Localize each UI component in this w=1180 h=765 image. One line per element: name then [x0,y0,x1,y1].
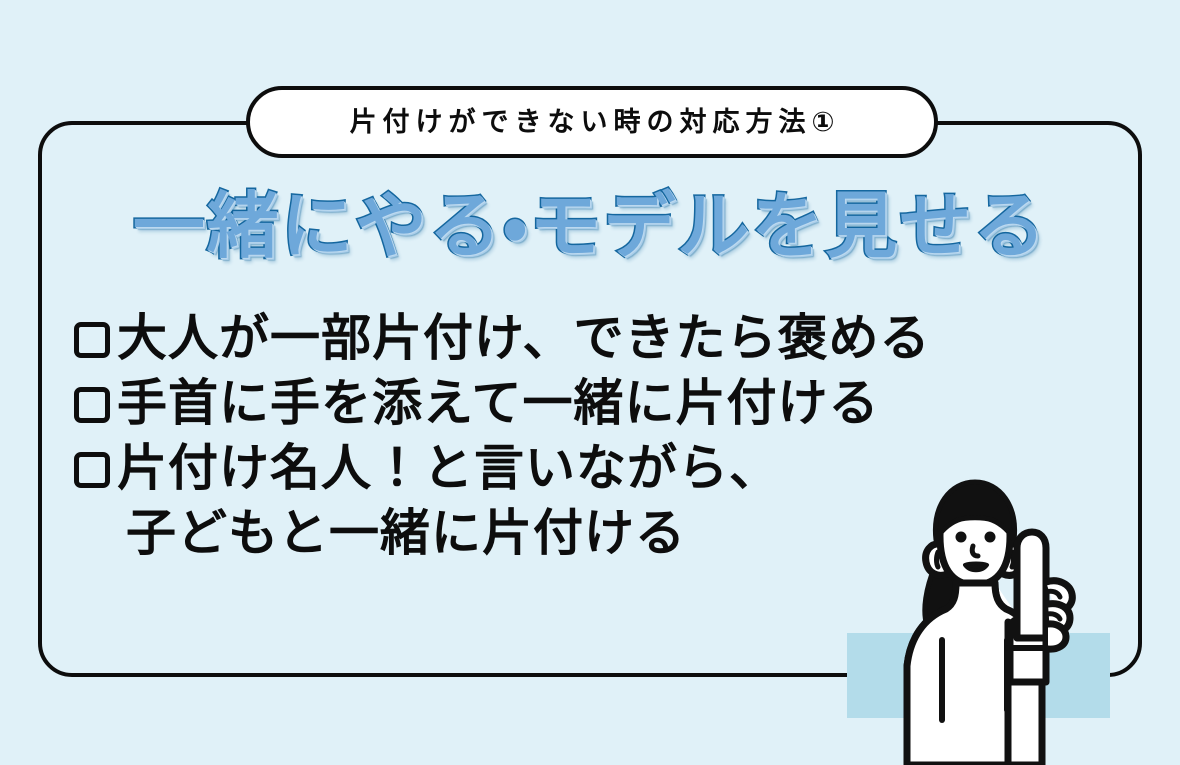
checklist-item-label: 大人が一部片付け、できたら褒める [117,306,931,371]
checkbox-icon[interactable] [74,452,110,488]
woman-pointing-up-icon [880,470,1110,765]
checklist-item-continuation-label: 子どもと一緒に片付ける [126,501,686,566]
checklist-item-label: 手首に手を添えて一緒に片付ける [117,371,880,436]
checkbox-icon[interactable] [74,387,110,423]
checklist-item[interactable]: 手首に手を添えて一緒に片付ける [74,371,1054,436]
woman-pointing-up-illustration [880,470,1110,765]
slide-canvas: 片付けができない時の対応方法① 一緒にやる・モデルを見せる 大人が一部片付け、で… [0,0,1180,765]
checkbox-icon[interactable] [74,322,110,358]
title-badge-label: 片付けができない時の対応方法① [344,109,841,136]
checklist-item-label: 片付け名人！と言いながら、 [117,436,780,501]
title-badge: 片付けができない時の対応方法① [246,86,938,158]
checklist-item[interactable]: 大人が一部片付け、できたら褒める [74,306,1054,371]
